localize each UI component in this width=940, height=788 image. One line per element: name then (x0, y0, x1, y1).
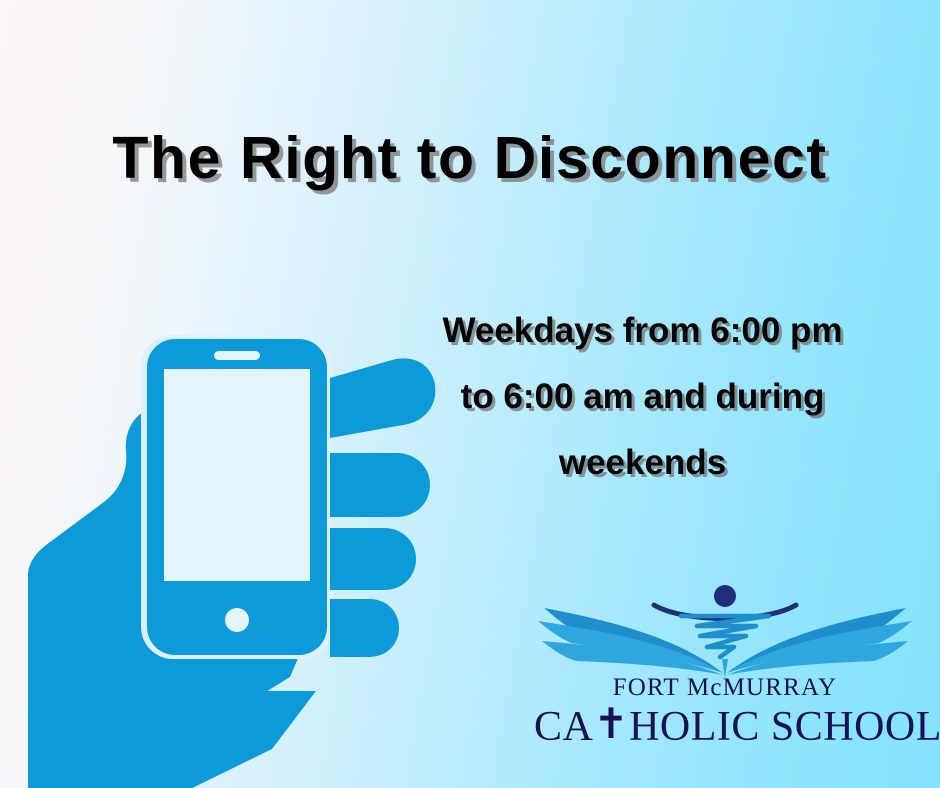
poster-canvas: The Right to Disconnect Weekdays from 6:… (0, 0, 940, 788)
logo-name-part2: HOLIC SCHOOLS (629, 704, 940, 750)
phone-speaker (214, 351, 260, 360)
figure-body (681, 616, 769, 657)
figure-head (714, 585, 736, 607)
logo-name-part1: CA (534, 704, 593, 750)
schedule-line-2: to 6:00 am and during (385, 364, 900, 430)
schedule-line-3: weekends (385, 430, 900, 496)
smartphone (147, 339, 327, 655)
logo-org-line: FORT McMURRAY (534, 673, 916, 703)
hand-holding-phone-illustration (28, 325, 448, 788)
logo-mark-icon (534, 583, 916, 679)
cross-icon: ✝ (593, 702, 629, 748)
fort-mcmurray-catholic-schools-logo: FORT McMURRAY CA✝HOLIC SCHOOLS (534, 583, 916, 755)
logo-wordmark: FORT McMURRAY CA✝HOLIC SCHOOLS (534, 673, 916, 751)
page-title: The Right to Disconnect (0, 124, 940, 192)
schedule-line-1: Weekdays from 6:00 pm (385, 298, 900, 364)
phone-screen (164, 369, 310, 581)
logo-name-line: CA✝HOLIC SCHOOLS (534, 703, 916, 751)
schedule-text: Weekdays from 6:00 pm to 6:00 am and dur… (385, 298, 900, 496)
fingertips (330, 358, 435, 657)
phone-home-button (225, 608, 249, 632)
